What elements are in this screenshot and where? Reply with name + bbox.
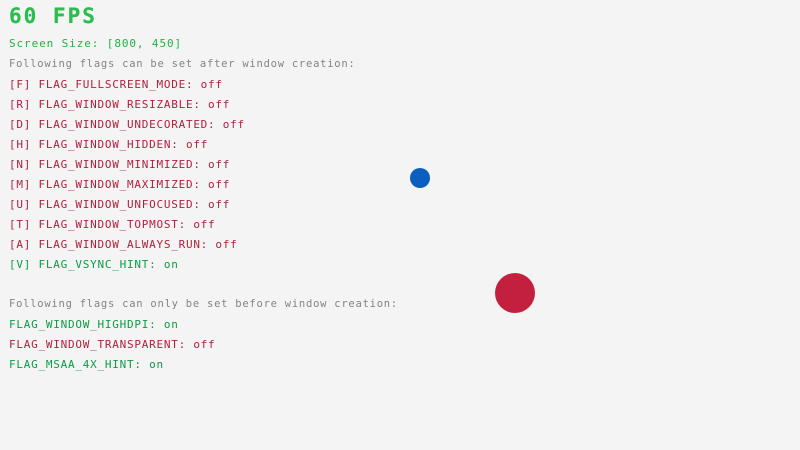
- fps-counter: 60 FPS: [9, 6, 97, 27]
- blue-ball-shape: [410, 168, 430, 188]
- flag-row-msaa-4x-hint: FLAG_MSAA_4X_HINT: on: [9, 359, 164, 371]
- flag-row-window-highdpi: FLAG_WINDOW_HIGHDPI: on: [9, 319, 179, 331]
- flag-row-fullscreen-mode[interactable]: [F] FLAG_FULLSCREEN_MODE: off: [9, 79, 223, 91]
- flag-row-window-unfocused[interactable]: [U] FLAG_WINDOW_UNFOCUSED: off: [9, 199, 230, 211]
- raylib-window-canvas: 60 FPS Screen Size: [800, 450] Following…: [0, 0, 800, 450]
- flags-before-creation-header: Following flags can only be set before w…: [9, 299, 398, 310]
- screen-size-label: Screen Size: [800, 450]: [9, 38, 182, 49]
- flag-row-window-minimized[interactable]: [N] FLAG_WINDOW_MINIMIZED: off: [9, 159, 230, 171]
- flag-row-window-transparent: FLAG_WINDOW_TRANSPARENT: off: [9, 339, 215, 351]
- flag-row-window-hidden[interactable]: [H] FLAG_WINDOW_HIDDEN: off: [9, 139, 208, 151]
- flag-row-window-topmost[interactable]: [T] FLAG_WINDOW_TOPMOST: off: [9, 219, 215, 231]
- flag-row-vsync-hint[interactable]: [V] FLAG_VSYNC_HINT: on: [9, 259, 179, 271]
- flag-row-window-maximized[interactable]: [M] FLAG_WINDOW_MAXIMIZED: off: [9, 179, 230, 191]
- flag-row-window-resizable[interactable]: [R] FLAG_WINDOW_RESIZABLE: off: [9, 99, 230, 111]
- flag-row-window-always-run[interactable]: [A] FLAG_WINDOW_ALWAYS_RUN: off: [9, 239, 238, 251]
- red-ball-shape: [495, 273, 535, 313]
- flags-after-creation-header: Following flags can be set after window …: [9, 59, 356, 70]
- flag-row-window-undecorated[interactable]: [D] FLAG_WINDOW_UNDECORATED: off: [9, 119, 245, 131]
